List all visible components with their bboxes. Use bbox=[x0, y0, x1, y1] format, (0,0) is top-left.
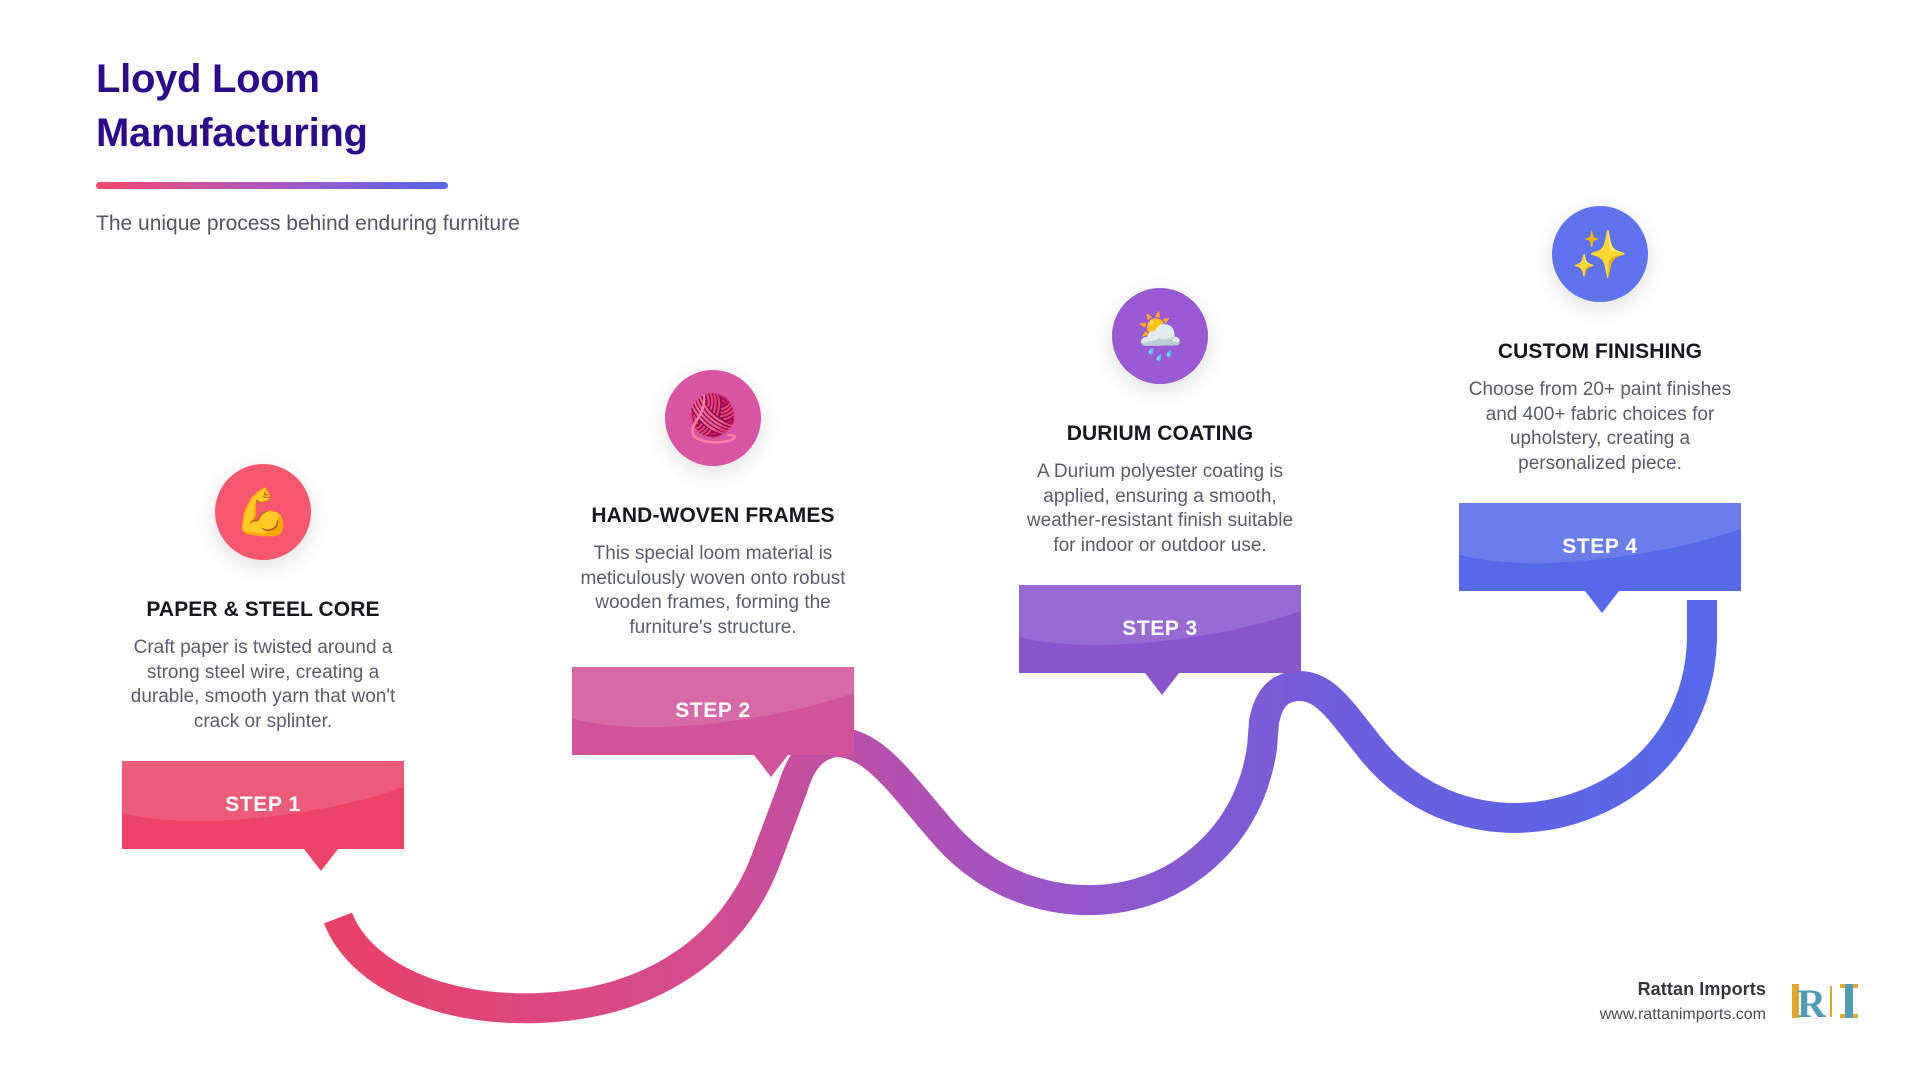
step-3-banner-label: STEP 3 bbox=[1122, 617, 1198, 641]
step-1-title: PAPER & STEEL CORE bbox=[118, 598, 408, 622]
sparkles-icon: ✨ bbox=[1552, 206, 1648, 302]
step-4-title: CUSTOM FINISHING bbox=[1455, 340, 1745, 364]
accent-divider bbox=[96, 182, 448, 189]
step-3-banner-wrap: STEP 3 bbox=[1019, 585, 1301, 673]
step-card-2: 🧶 HAND-WOVEN FRAMES This special loom ma… bbox=[568, 370, 858, 755]
sun-behind-rain-cloud-icon: 🌦️ bbox=[1112, 288, 1208, 384]
step-2-title: HAND-WOVEN FRAMES bbox=[568, 504, 858, 528]
step-4-banner-wrap: STEP 4 bbox=[1459, 503, 1741, 591]
step-4-banner[interactable]: STEP 4 bbox=[1459, 503, 1741, 591]
step-3-banner-tail bbox=[1145, 673, 1179, 695]
footer-text: Rattan Imports www.rattanimports.com bbox=[1600, 979, 1766, 1024]
page-subtitle: The unique process behind enduring furni… bbox=[96, 209, 526, 239]
step-card-4: ✨ CUSTOM FINISHING Choose from 20+ paint… bbox=[1455, 206, 1745, 591]
rattan-imports-logo: R bbox=[1790, 978, 1864, 1024]
step-card-1: 💪 PAPER & STEEL CORE Craft paper is twis… bbox=[118, 464, 408, 849]
page-title: Lloyd Loom Manufacturing bbox=[96, 52, 536, 160]
step-2-description: This special loom material is meticulous… bbox=[568, 542, 858, 641]
step-3-description: A Durium polyester coating is applied, e… bbox=[1015, 460, 1305, 559]
step-1-banner-wrap: STEP 1 bbox=[122, 761, 404, 849]
step-4-description: Choose from 20+ paint finishes and 400+ … bbox=[1455, 378, 1745, 477]
step-2-banner-label: STEP 2 bbox=[675, 699, 751, 723]
step-4-banner-label: STEP 4 bbox=[1562, 535, 1638, 559]
step-1-banner-label: STEP 1 bbox=[225, 793, 301, 817]
step-1-banner[interactable]: STEP 1 bbox=[122, 761, 404, 849]
step-2-banner-wrap: STEP 2 bbox=[572, 667, 854, 755]
brand-url[interactable]: www.rattanimports.com bbox=[1600, 1006, 1766, 1024]
step-3-title: DURIUM COATING bbox=[1015, 422, 1305, 446]
footer-branding: Rattan Imports www.rattanimports.com R bbox=[1600, 978, 1864, 1024]
step-2-banner-tail bbox=[754, 755, 788, 777]
step-card-3: 🌦️ DURIUM COATING A Durium polyester coa… bbox=[1015, 288, 1305, 673]
step-1-banner-tail bbox=[304, 849, 338, 871]
step-1-icon-glyph: 💪 bbox=[234, 489, 291, 535]
step-1-description: Craft paper is twisted around a strong s… bbox=[118, 636, 408, 735]
yarn-ball-icon: 🧶 bbox=[665, 370, 761, 466]
infographic-canvas: Lloyd Loom Manufacturing The unique proc… bbox=[0, 0, 1920, 1080]
logo-mark: R bbox=[1790, 978, 1864, 1024]
brand-name: Rattan Imports bbox=[1600, 979, 1766, 1000]
step-4-icon-glyph: ✨ bbox=[1571, 231, 1628, 277]
header: Lloyd Loom Manufacturing The unique proc… bbox=[96, 52, 536, 239]
step-2-banner[interactable]: STEP 2 bbox=[572, 667, 854, 755]
flexed-biceps-icon: 💪 bbox=[215, 464, 311, 560]
step-2-icon-glyph: 🧶 bbox=[684, 395, 741, 441]
step-3-icon-glyph: 🌦️ bbox=[1131, 313, 1188, 359]
step-3-banner[interactable]: STEP 3 bbox=[1019, 585, 1301, 673]
step-4-banner-tail bbox=[1585, 591, 1619, 613]
svg-text:R: R bbox=[1797, 981, 1827, 1024]
